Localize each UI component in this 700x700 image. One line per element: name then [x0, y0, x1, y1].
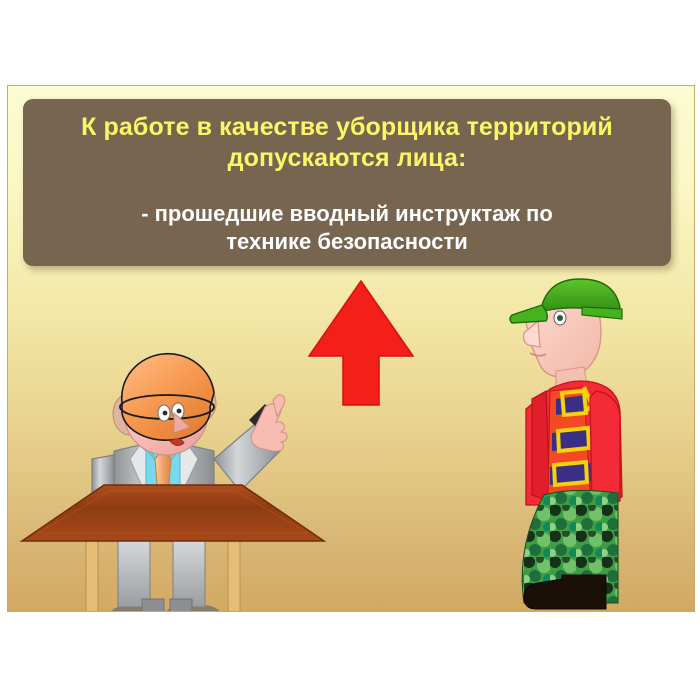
headline-line-1: К работе в качестве уборщика территорий: [37, 112, 657, 143]
poster-requirement: - прошедшие вводный инструктаж по техник…: [41, 200, 653, 256]
requirement-line-1: - прошедшие вводный инструктаж по: [41, 200, 653, 228]
trousers: [118, 539, 205, 612]
standing-worker-figure: [498, 271, 648, 611]
high-visibility-vest: [548, 387, 593, 495]
safety-poster: К работе в качестве уборщика территорий …: [7, 85, 695, 612]
poster-headline: К работе в качестве уборщика территорий …: [37, 112, 657, 174]
instruction-panel: К работе в качестве уборщика территорий …: [23, 99, 671, 266]
head-with-helmet: [113, 354, 216, 455]
desk-top: [22, 485, 324, 541]
poster-canvas: К работе в качестве уборщика территорий …: [0, 0, 700, 700]
seated-supervisor-figure: [18, 341, 328, 612]
requirement-line-2: технике безопасности: [41, 228, 653, 256]
headline-line-2: допускаются лица:: [37, 143, 657, 174]
pointing-arm: [214, 395, 287, 491]
